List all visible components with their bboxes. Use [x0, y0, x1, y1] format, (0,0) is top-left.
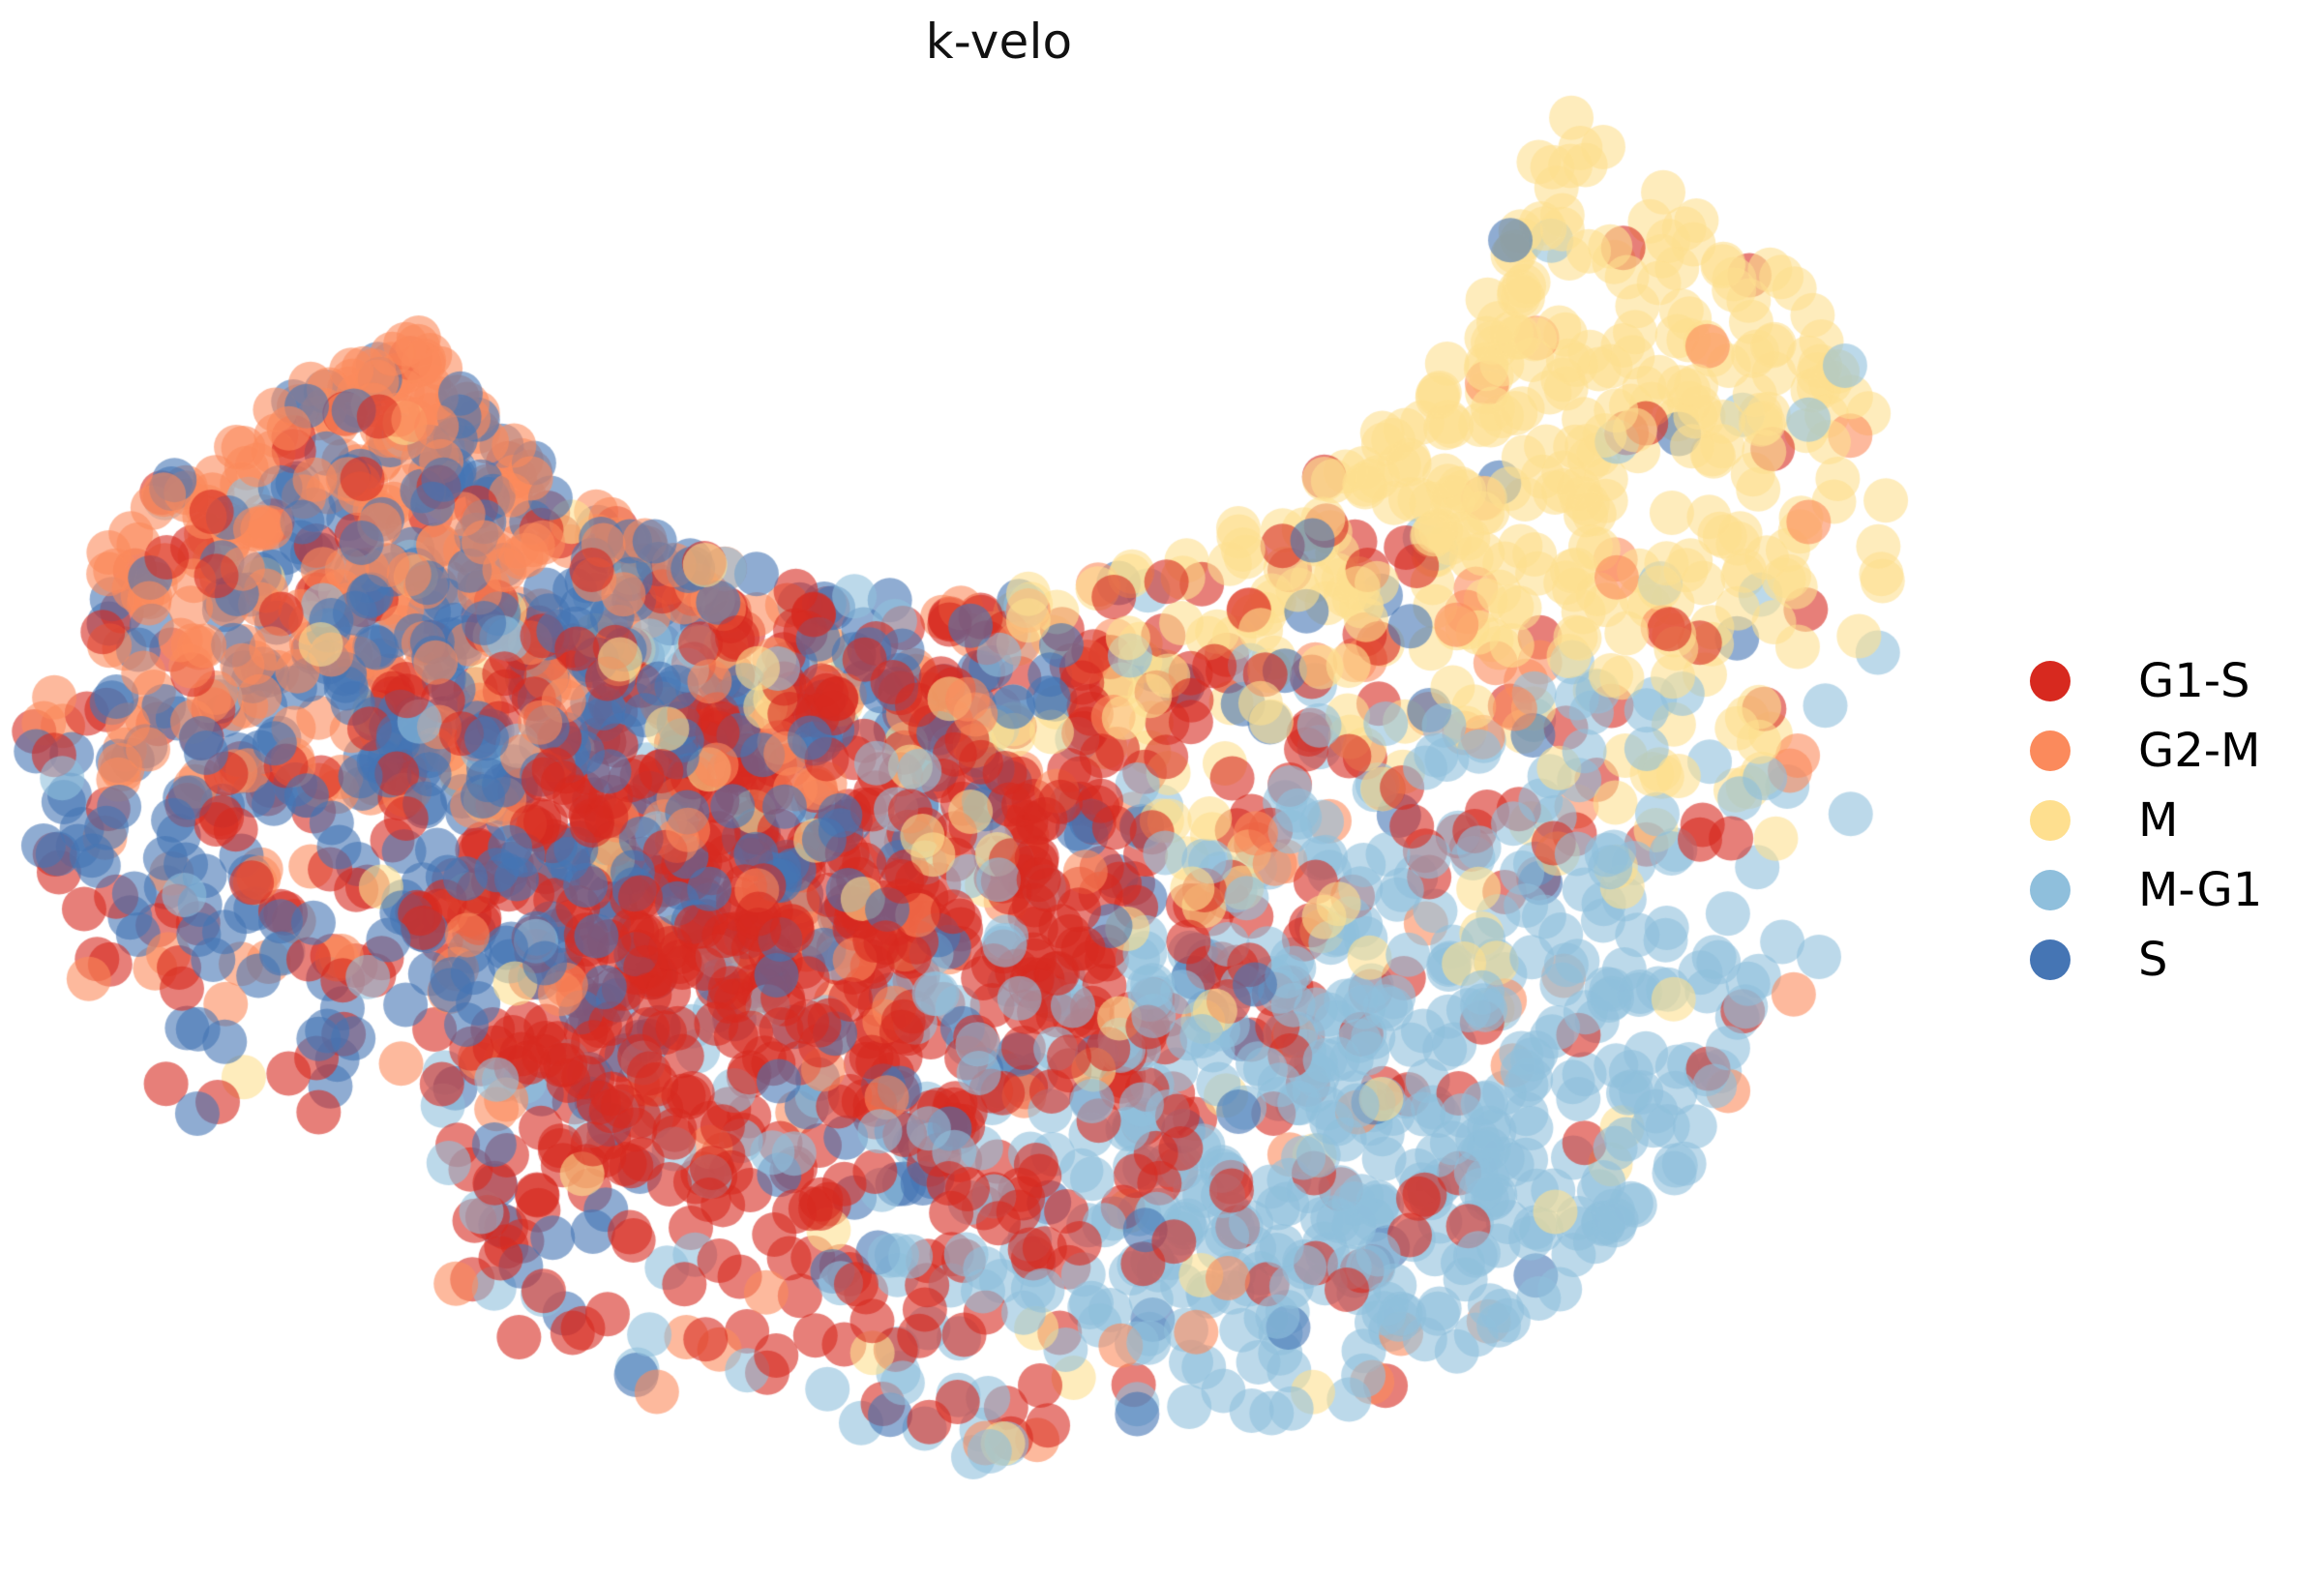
legend-label-g1s: G1-S	[2138, 658, 2250, 704]
figure-canvas: k-velo G1-S G2-M M M-G1 S	[0, 0, 2324, 1580]
legend-item-g2m[interactable]: G2-M	[2024, 716, 2314, 786]
legend-label-s: S	[2138, 937, 2167, 983]
legend-swatch-icon-s	[2030, 939, 2071, 980]
legend-swatch-icon-mg1	[2030, 870, 2071, 910]
legend-swatch-icon-g2m	[2030, 730, 2071, 771]
scatter-points-canvas	[0, 58, 1998, 1577]
legend-label-mg1: M-G1	[2138, 867, 2262, 913]
legend: G1-S G2-M M M-G1 S	[2024, 646, 2314, 995]
legend-swatch-icon-m	[2030, 800, 2071, 841]
legend-item-s[interactable]: S	[2024, 925, 2314, 995]
legend-label-m: M	[2138, 797, 2178, 844]
legend-item-g1s[interactable]: G1-S	[2024, 646, 2314, 716]
legend-item-mg1[interactable]: M-G1	[2024, 855, 2314, 925]
legend-swatch-icon-g1s	[2030, 661, 2071, 701]
scatter-plot-area	[0, 58, 1998, 1577]
legend-label-g2m: G2-M	[2138, 728, 2260, 774]
legend-item-m[interactable]: M	[2024, 786, 2314, 855]
